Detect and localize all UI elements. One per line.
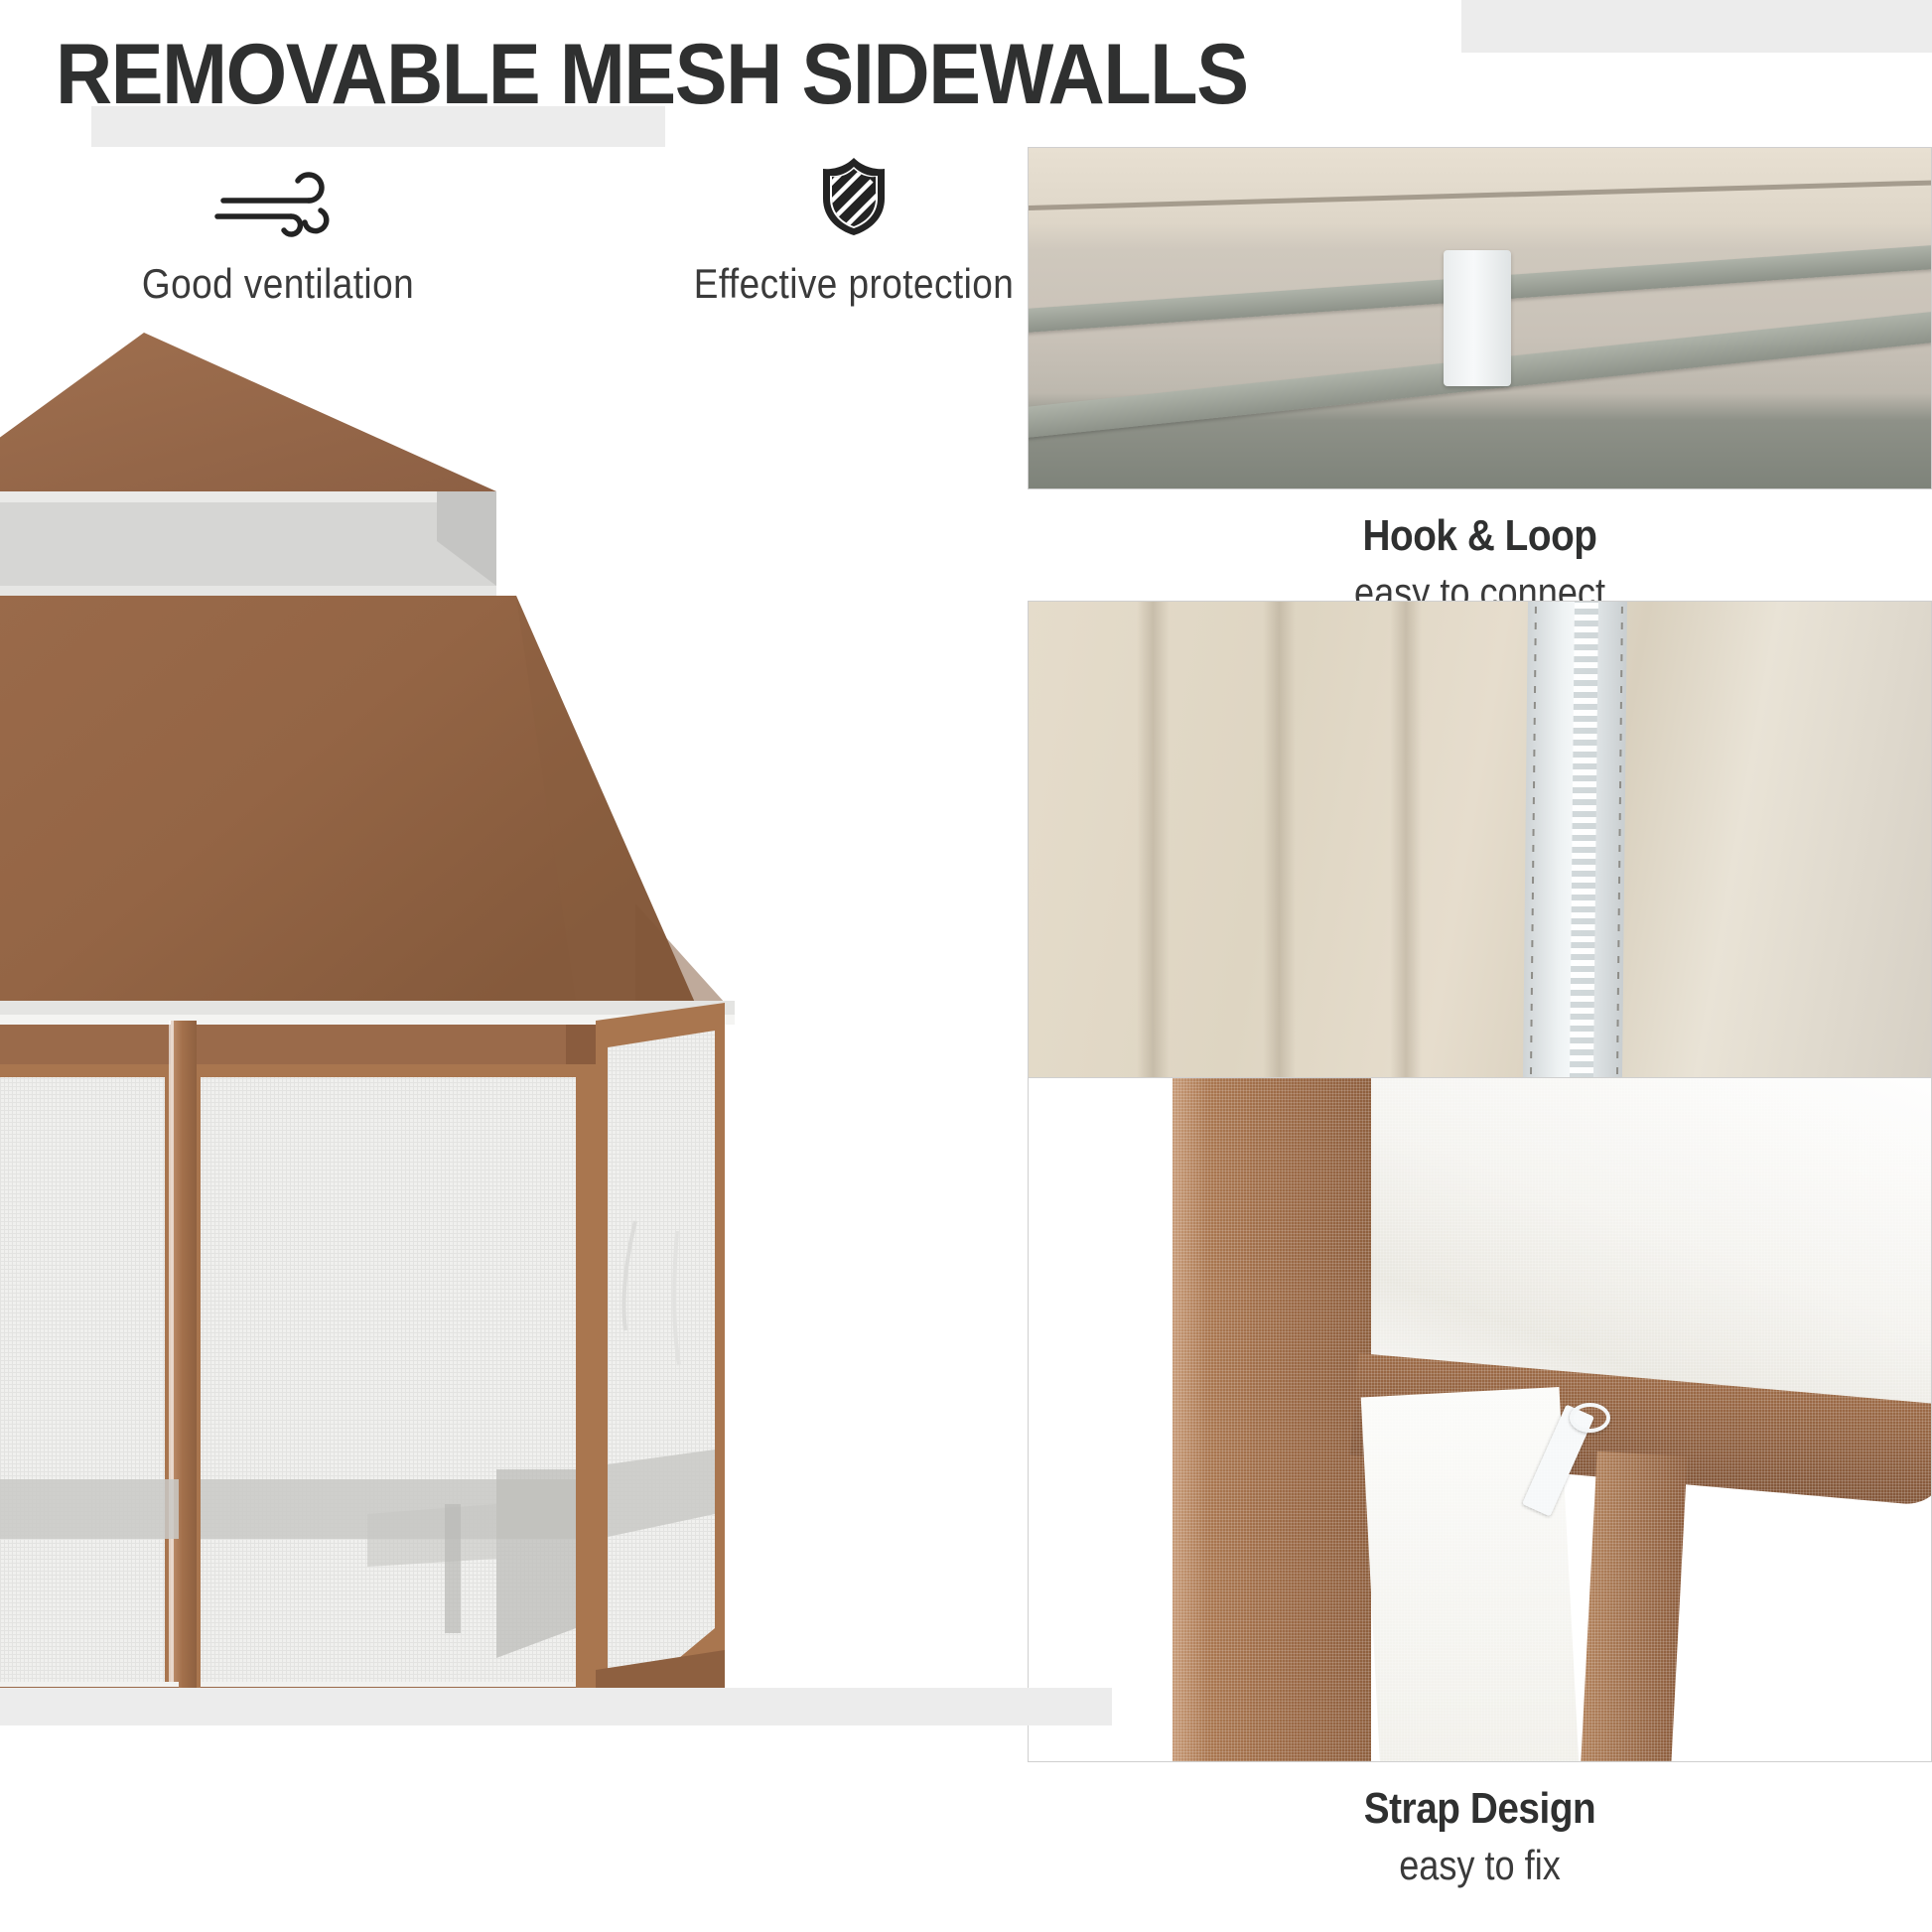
feature-label: Good ventilation: [112, 260, 444, 308]
panel-subtitle: easy to fix: [1091, 1842, 1868, 1889]
strap-ring: [1570, 1403, 1610, 1433]
panel-title: Hook & Loop: [1082, 511, 1878, 561]
feature-good-ventilation: Good ventilation: [89, 159, 467, 308]
canopy-post: [1173, 1077, 1371, 1762]
feature-panel-hook-loop: Hook & Loop easy to connect: [1028, 147, 1932, 617]
panel-title: Strap Design: [1082, 1784, 1878, 1834]
infographic-canvas: REMOVABLE MESH SIDEWALLS Good ventilatio…: [0, 0, 1932, 1932]
hook-loop-photo: [1028, 147, 1932, 489]
feature-panel-strap-design: Strap Design easy to fix: [1028, 1077, 1932, 1889]
decor-block-bottom-left: [0, 1688, 1112, 1725]
velcro-strap: [1444, 250, 1511, 386]
gazebo-illustration: [0, 308, 1052, 1718]
strap-photo: [1028, 1077, 1932, 1762]
decor-block-top-right: [1461, 0, 1932, 53]
page-title: REMOVABLE MESH SIDEWALLS: [56, 30, 1248, 119]
wind-icon: [89, 159, 467, 238]
